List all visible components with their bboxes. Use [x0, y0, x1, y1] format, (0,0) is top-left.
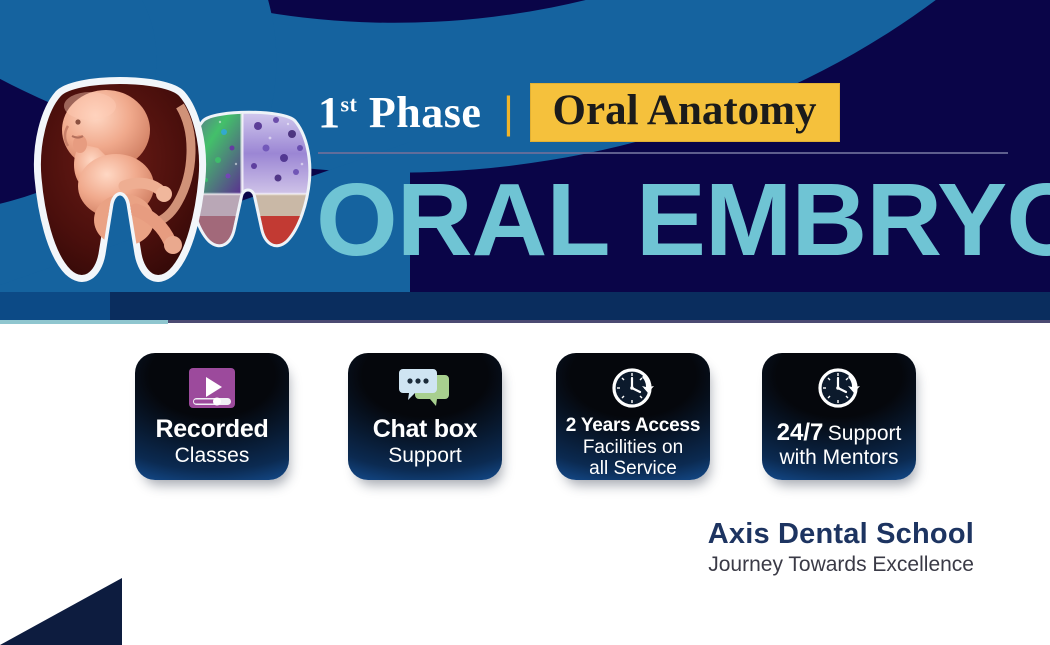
card-title-rest: Support [828, 422, 902, 445]
clock-icon [762, 363, 916, 413]
card-title: Chat box [354, 415, 496, 444]
feature-card-years-access[interactable]: 2 Years Access Facilities on all Service [556, 353, 710, 480]
phase-separator: | [503, 89, 513, 135]
card-line-2: Facilities on [562, 437, 704, 459]
brand-tagline: Journey Towards Excellence [708, 553, 974, 577]
tooth-artwork [28, 70, 318, 288]
card-title: Recorded [141, 415, 283, 444]
header-band-accent [0, 292, 110, 322]
card-text-chat-box: Chat box Support [348, 415, 502, 467]
brand-name: Axis Dental School [708, 518, 974, 551]
card-title-bold: 24/7 [777, 419, 824, 446]
header-bottom-band [0, 292, 1050, 322]
tooth-fetus-illustration [28, 70, 212, 286]
footer-corner-shape [0, 578, 122, 645]
card-title-line: 24/7 Support [768, 419, 910, 446]
feature-cards: Recorded Classes Chat box Support [0, 353, 1050, 483]
feature-card-support-mentors[interactable]: 24/7 Support with Mentors [762, 353, 916, 480]
card-subtitle: Support [354, 444, 496, 468]
video-player-icon [135, 363, 289, 413]
phase-heading: 1st Phase | Oral Anatomy [318, 82, 1018, 142]
card-text-support-mentors: 24/7 Support with Mentors [762, 419, 916, 470]
phase-ordinal-suffix: st [341, 91, 358, 116]
card-text-recorded: Recorded Classes [135, 415, 289, 467]
brand-block: Axis Dental School Journey Towards Excel… [708, 518, 974, 577]
card-text-years-access: 2 Years Access Facilities on all Service [556, 415, 710, 480]
card-subtitle: Classes [141, 444, 283, 468]
phase-number: 1 [318, 88, 341, 137]
header-divider [318, 152, 1008, 154]
header-band-line [168, 320, 1050, 323]
header-band-teal-strip [0, 320, 168, 324]
header-banner: 1st Phase | Oral Anatomy ORAL EMBRYOLOGY [0, 0, 1050, 292]
card-line-2: with Mentors [768, 446, 910, 470]
feature-card-chat-box[interactable]: Chat box Support [348, 353, 502, 480]
phase-label: 1st Phase [318, 87, 481, 138]
subject-badge: Oral Anatomy [530, 83, 840, 142]
card-title: 2 Years Access [562, 415, 704, 437]
clock-icon [556, 363, 710, 413]
phase-word: Phase [369, 88, 482, 137]
chat-bubbles-icon [348, 363, 502, 413]
feature-card-recorded[interactable]: Recorded Classes [135, 353, 289, 480]
course-title: ORAL EMBRYOLOGY [316, 168, 1030, 271]
card-line-3: all Service [562, 458, 704, 480]
